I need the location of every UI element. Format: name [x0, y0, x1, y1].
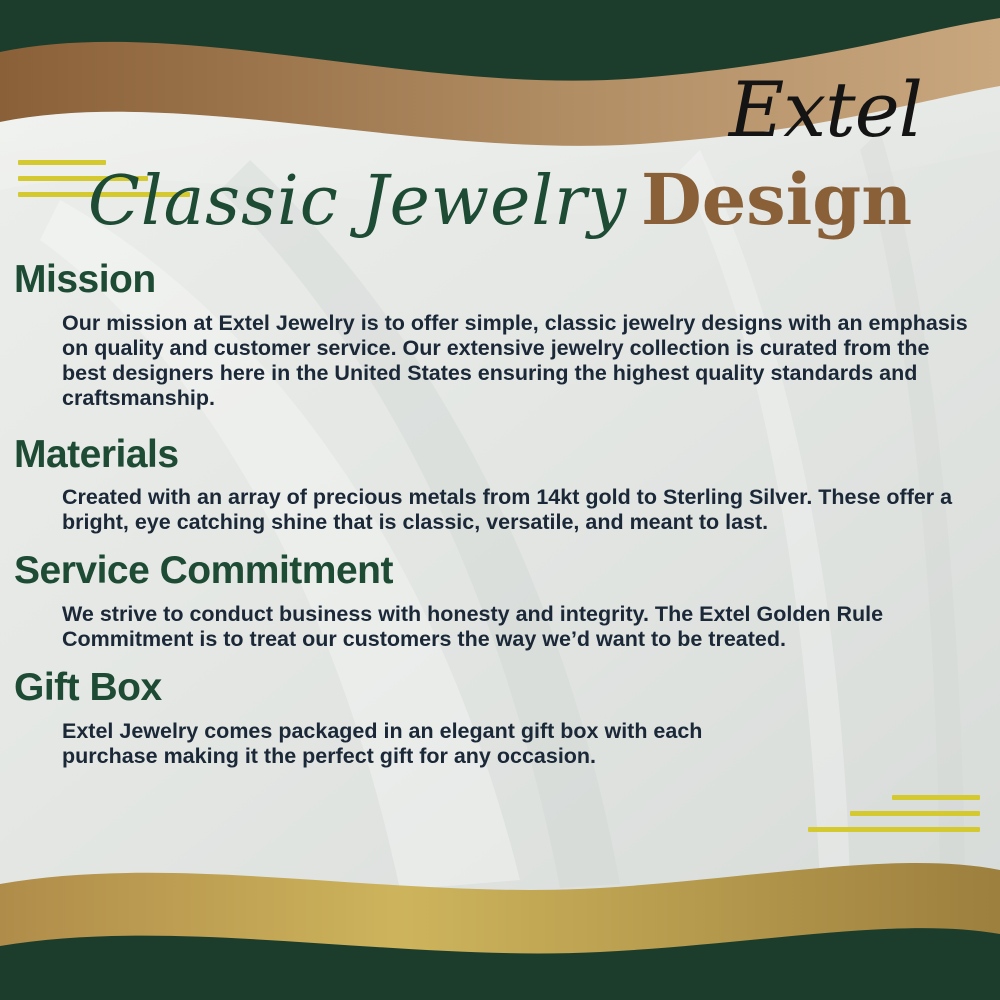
decor-line: [850, 811, 980, 816]
title-script: Classic Jewelry: [88, 162, 627, 241]
section-body: We strive to conduct business with hones…: [62, 602, 974, 652]
section-service-commitment: Service Commitment We strive to conduct …: [14, 549, 986, 652]
page-title: Classic JewelryDesign: [0, 158, 1000, 241]
section-heading: Mission: [14, 258, 986, 303]
section-body: Extel Jewelry comes packaged in an elega…: [62, 719, 762, 769]
section-heading: Service Commitment: [14, 549, 986, 594]
section-heading: Gift Box: [14, 666, 986, 711]
section-materials: Materials Created with an array of preci…: [14, 433, 986, 536]
decor-lines-bottom-right: [808, 795, 980, 843]
section-body: Created with an array of precious metals…: [62, 485, 974, 535]
section-heading: Materials: [14, 433, 986, 478]
brand-logo: Extel: [729, 72, 922, 148]
section-body: Our mission at Extel Jewelry is to offer…: [62, 311, 974, 411]
section-mission: Mission Our mission at Extel Jewelry is …: [14, 258, 986, 411]
decor-line: [808, 827, 980, 832]
poster-canvas: Extel Classic JewelryDesign Mission Our …: [0, 0, 1000, 1000]
section-gift-box: Gift Box Extel Jewelry comes packaged in…: [14, 666, 986, 769]
decor-line: [892, 795, 980, 800]
title-bold: Design: [641, 158, 912, 241]
content-sections: Mission Our mission at Extel Jewelry is …: [14, 258, 986, 783]
